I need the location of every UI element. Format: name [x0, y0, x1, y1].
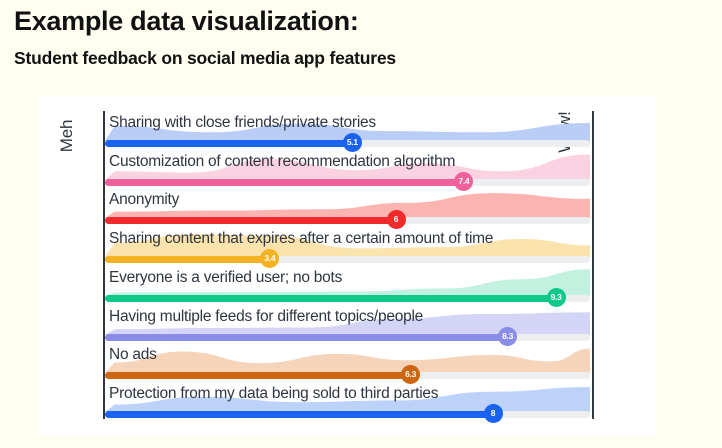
chart-row-label: Having multiple feeds for different topi…: [109, 307, 423, 327]
rating-fill: [105, 217, 396, 224]
chart-row[interactable]: Having multiple feeds for different topi…: [105, 305, 590, 343]
chart-row-label: No ads: [109, 345, 157, 365]
rating-value-badge[interactable]: 8: [484, 404, 503, 423]
chart-row[interactable]: Protection from my data being sold to th…: [105, 382, 590, 420]
chart-row[interactable]: Everyone is a verified user; no bots9.3: [105, 266, 590, 304]
rating-fill: [105, 295, 556, 302]
axis-label-low: Meh: [57, 91, 77, 181]
rating-fill: [105, 411, 493, 418]
chart-row[interactable]: No ads6.3: [105, 343, 590, 381]
chart-row-label: Sharing content that expires after a cer…: [109, 229, 493, 249]
chart-row-label: Sharing with close friends/private stori…: [109, 113, 376, 133]
chart-plot-area: Sharing with close friends/private stori…: [105, 111, 590, 421]
chart-row[interactable]: Anonymity6: [105, 188, 590, 226]
chart-row-label: Protection from my data being sold to th…: [109, 384, 438, 404]
page-title: Example data visualization:: [14, 6, 359, 37]
rating-fill: [105, 372, 411, 379]
rating-fill: [105, 140, 352, 147]
rating-fill: [105, 256, 270, 263]
chart-row-label: Anonymity: [109, 190, 179, 210]
chart-row-label: Customization of content recommendation …: [109, 152, 455, 172]
chart-row-label: Everyone is a verified user; no bots: [109, 268, 342, 288]
chart-row[interactable]: Sharing content that expires after a cer…: [105, 227, 590, 265]
chart-page: Example data visualization: Student feed…: [0, 0, 722, 448]
chart-row[interactable]: Customization of content recommendation …: [105, 150, 590, 188]
axis-line-right: [592, 111, 594, 419]
page-subtitle: Student feedback on social media app fea…: [14, 48, 396, 69]
chart-row[interactable]: Sharing with close friends/private stori…: [105, 111, 590, 149]
rating-fill: [105, 179, 464, 186]
rating-fill: [105, 334, 508, 341]
